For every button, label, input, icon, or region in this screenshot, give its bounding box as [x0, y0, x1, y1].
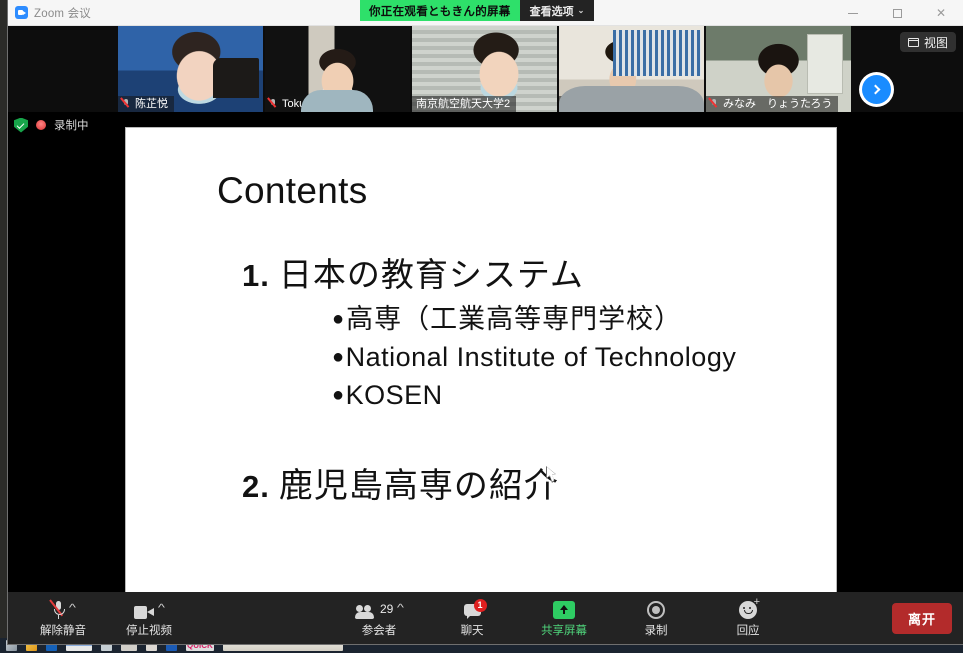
chat-unread-badge: 1: [474, 599, 487, 612]
minimize-button[interactable]: [831, 0, 875, 26]
chevron-down-icon: ⌄: [578, 6, 585, 15]
participants-button-label: 参会者: [362, 622, 397, 638]
participant-name: 南京航空航天大学2: [416, 96, 510, 112]
view-options-label: 查看选项: [530, 3, 574, 19]
video-icon-row: ^: [134, 599, 164, 619]
filmstrip-next-page-button[interactable]: [862, 75, 891, 104]
slide-body: 1. 日本の教育システム ● 高専（工業高等専門学校） ● National I…: [126, 248, 836, 507]
leave-meeting-button[interactable]: 离开: [892, 603, 952, 634]
close-button[interactable]: ✕: [919, 0, 963, 26]
recording-label: 录制中: [54, 117, 89, 133]
participant-tile[interactable]: 熊: [559, 26, 704, 112]
smiley-reaction-icon: +: [739, 601, 757, 619]
video-button-label: 停止视频: [126, 622, 172, 638]
meeting-toolbar: ^ 解除静音 ^ 停止视频 29 ^ 参会者: [8, 592, 963, 644]
item-number: 2.: [242, 469, 270, 505]
participant-name: 熊: [576, 96, 587, 112]
muted-microphone-icon: [710, 98, 719, 110]
window-controls: ✕: [831, 0, 963, 26]
view-button-label: 视图: [924, 34, 948, 51]
participant-nameplate: Tokunaga: [265, 96, 336, 112]
participant-nameplate: みなみ りょうたろう: [706, 96, 838, 112]
record-button-label: 录制: [645, 622, 668, 638]
participant-name: Tokunaga: [282, 96, 330, 112]
participants-icon-row: 29 ^: [355, 599, 403, 619]
slide-bullet: ● National Institute of Technology: [332, 338, 836, 376]
share-screen-icon: [553, 601, 575, 619]
participant-name: 陈芷悦: [135, 96, 168, 112]
slide-bullet: ● 高専（工業高等専門学校）: [332, 300, 836, 338]
zoom-meeting-window: Zoom 会议 你正在观看ともきん的屏幕 查看选项 ⌄ ✕ 陈芷悦 T: [8, 0, 963, 644]
shared-screen-stage: 录制中 Contents 1. 日本の教育システム ● 高専（工業高等専門学校）…: [8, 112, 963, 592]
record-circle-icon: [647, 601, 665, 619]
participant-tile[interactable]: Tokunaga: [265, 26, 410, 112]
video-camera-icon: [134, 606, 154, 619]
toolbar-center-group: 29 ^ 参会者 1 聊天 共享屏幕: [349, 599, 777, 638]
slide-bullet: ● KOSEN: [332, 376, 836, 414]
participant-tile[interactable]: 陈芷悦: [118, 26, 263, 112]
audio-options-caret-icon[interactable]: ^: [68, 599, 75, 619]
mute-icon-row: ^: [52, 599, 75, 619]
chat-bubble-icon: 1: [464, 604, 481, 619]
share-screen-button-label: 共享屏幕: [541, 622, 587, 638]
video-options-caret-icon[interactable]: ^: [158, 599, 165, 619]
close-icon: ✕: [936, 7, 946, 19]
participants-button[interactable]: 29 ^ 参会者: [349, 599, 409, 638]
recording-indicator[interactable]: 录制中: [14, 115, 89, 135]
bullet-dot-icon: ●: [332, 300, 345, 338]
view-options-button[interactable]: 查看选项 ⌄: [520, 0, 595, 21]
participants-caret-icon[interactable]: ^: [397, 599, 404, 619]
window-title: Zoom 会议: [34, 5, 91, 21]
chat-icon-row: 1: [464, 599, 481, 619]
participant-tile[interactable]: みなみ りょうたろう: [706, 26, 851, 112]
app-brand: Zoom 会议: [8, 5, 91, 21]
screen-share-banner-group: 你正在观看ともきん的屏幕 查看选项 ⌄: [360, 0, 594, 21]
chat-button[interactable]: 1 聊天: [443, 599, 501, 638]
participant-tile[interactable]: 南京航空航天大学2: [412, 26, 557, 112]
record-button[interactable]: 录制: [627, 599, 685, 638]
participants-icon: [355, 605, 375, 619]
record-icon-row: [647, 599, 665, 619]
bullet-text: 高専（工業高等専門学校）: [346, 300, 682, 338]
item-text: 日本の教育システム: [279, 248, 584, 296]
slide-numbered-item: 1. 日本の教育システム: [126, 248, 836, 296]
share-icon-row: [553, 599, 575, 619]
reactions-button[interactable]: + 回应: [719, 599, 777, 638]
item-number: 1.: [242, 258, 270, 294]
view-layout-button[interactable]: 视图: [900, 32, 956, 52]
video-button[interactable]: ^ 停止视频: [120, 599, 178, 638]
participant-nameplate: 南京航空航天大学2: [412, 96, 516, 112]
participants-count: 29: [380, 599, 393, 619]
viewing-share-banner: 你正在观看ともきん的屏幕: [360, 0, 520, 21]
slide-numbered-item: 2. 鹿児島高専の紹介: [126, 458, 836, 507]
chevron-right-icon: [871, 85, 881, 95]
participant-nameplate: 熊: [559, 96, 593, 112]
participant-filmstrip[interactable]: 陈芷悦 Tokunaga 南京航空航天大学2 熊 みなみ りょうたろう: [8, 26, 963, 112]
reactions-icon-row: +: [739, 599, 757, 619]
mute-button-label: 解除静音: [40, 622, 86, 638]
bullet-text: KOSEN: [346, 376, 443, 414]
encryption-shield-icon: [14, 118, 28, 133]
slide-title: Contents: [217, 170, 368, 212]
mute-button[interactable]: ^ 解除静音: [34, 599, 92, 638]
window-titlebar: Zoom 会议 你正在观看ともきん的屏幕 查看选项 ⌄ ✕: [8, 0, 963, 26]
grid-view-icon: [908, 38, 919, 47]
chat-button-label: 聊天: [461, 622, 484, 638]
share-screen-button[interactable]: 共享屏幕: [535, 599, 593, 638]
participant-nameplate: 陈芷悦: [118, 96, 174, 112]
bullet-dot-icon: ●: [332, 376, 345, 414]
slide-bullet-list: ● 高専（工業高等専門学校） ● National Institute of T…: [126, 300, 836, 414]
microphone-muted-icon: [52, 600, 65, 619]
bullet-text: National Institute of Technology: [346, 338, 737, 376]
presentation-slide: Contents 1. 日本の教育システム ● 高専（工業高等専門学校） ● N…: [126, 128, 836, 592]
bullet-dot-icon: ●: [332, 338, 345, 376]
recording-dot-icon: [36, 120, 46, 130]
participant-name: みなみ りょうたろう: [723, 96, 832, 112]
item-text: 鹿児島高専の紹介: [279, 458, 559, 507]
maximize-button[interactable]: [875, 0, 919, 26]
zoom-logo-icon: [15, 6, 28, 19]
muted-microphone-icon: [122, 98, 131, 110]
muted-microphone-icon: [269, 98, 278, 110]
reactions-button-label: 回应: [737, 622, 760, 638]
leave-button-label: 离开: [908, 612, 936, 627]
muted-microphone-icon: [563, 98, 572, 110]
